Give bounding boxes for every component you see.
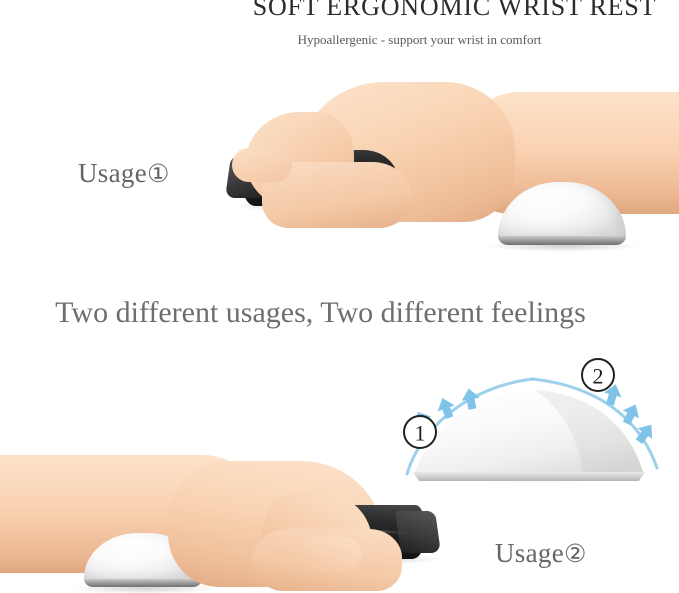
- circled-two-icon: ②: [564, 541, 586, 568]
- wrist-rest-base-top: [498, 236, 626, 245]
- wrist-rest-base-bottom: [84, 579, 202, 587]
- diagram-badge-two: 2: [582, 359, 614, 391]
- header: SOFT ERGONOMIC WRIST REST Hypoallergenic…: [0, 0, 679, 60]
- circled-one-icon: ①: [147, 161, 169, 188]
- page-subtitle: Hypoallergenic - support your wrist in c…: [0, 32, 679, 48]
- fingertip-top: [232, 148, 292, 182]
- usage-two-text: Usage: [495, 538, 564, 568]
- diagram-badge-one: 1: [404, 416, 436, 448]
- usage-one-label: Usage①: [78, 158, 169, 189]
- fingertip-bottom: [300, 537, 362, 571]
- page-title: SOFT ERGONOMIC WRIST REST: [0, 0, 679, 22]
- diagram-badge-two-text: 2: [593, 364, 604, 389]
- usage-two-label: Usage②: [495, 538, 586, 569]
- tagline: Two different usages, Two different feel…: [0, 296, 679, 330]
- usage-one-text: Usage: [78, 158, 147, 188]
- diagram-badge-one-text: 1: [415, 421, 426, 446]
- photo-usage-two: [0, 455, 470, 593]
